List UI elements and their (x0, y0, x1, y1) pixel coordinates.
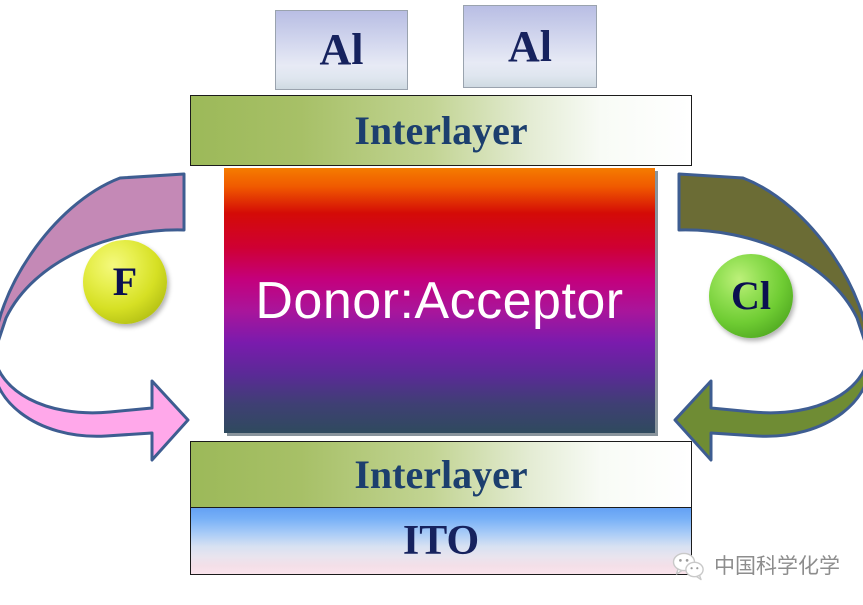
al-electrode-right: Al (463, 5, 597, 88)
left-arrow-lower-band (0, 354, 188, 460)
al-electrode-left: Al (275, 10, 408, 90)
fluorine-label: F (113, 262, 137, 302)
right-arrow-lower-band (675, 354, 863, 460)
al-electrode-left-label: Al (320, 28, 364, 72)
wechat-icon (672, 551, 706, 581)
fluorine-sphere: F (83, 240, 167, 324)
watermark-text: 中国科学化学 (714, 556, 840, 577)
ito-layer: ITO (190, 507, 692, 575)
active-layer-label: Donor:Acceptor (255, 275, 623, 327)
ito-layer-label: ITO (403, 520, 479, 562)
active-layer: Donor:Acceptor (224, 168, 655, 433)
al-electrode-right-label: Al (508, 25, 552, 69)
chlorine-label: Cl (731, 276, 771, 316)
bottom-interlayer-label: Interlayer (354, 455, 527, 495)
watermark: 中国科学化学 (672, 551, 840, 581)
chlorine-sphere: Cl (709, 254, 793, 338)
diagram-canvas: Al Al Interlayer Donor:Acceptor Interlay… (0, 0, 863, 605)
top-interlayer-label: Interlayer (354, 111, 527, 151)
top-interlayer: Interlayer (190, 95, 692, 166)
bottom-interlayer: Interlayer (190, 441, 692, 508)
